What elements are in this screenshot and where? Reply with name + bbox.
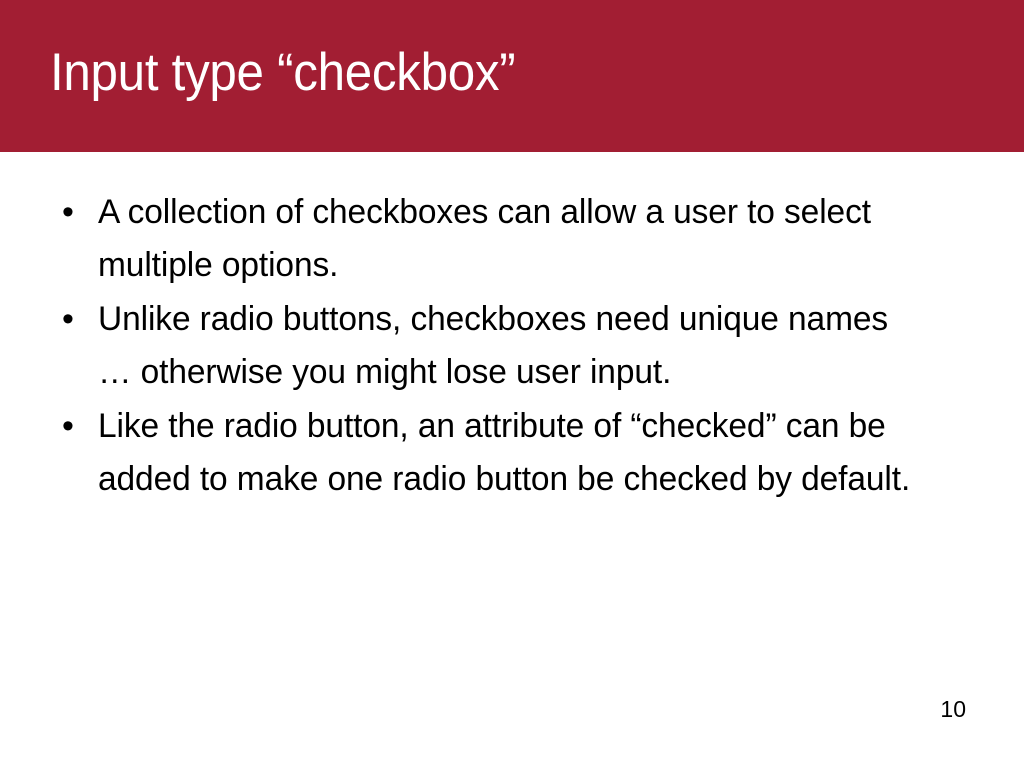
- page-title: Input type “checkbox”: [50, 44, 924, 101]
- page-number: 10: [940, 698, 966, 721]
- bullet-marker-icon: •: [58, 186, 98, 239]
- bullet-list: • A collection of checkboxes can allow a…: [58, 186, 958, 507]
- list-item: • Unlike radio buttons, checkboxes need …: [58, 293, 958, 399]
- list-item: • A collection of checkboxes can allow a…: [58, 186, 958, 292]
- list-item-text: Like the radio button, an attribute of “…: [98, 400, 925, 506]
- list-item-text: Unlike radio buttons, checkboxes need un…: [98, 293, 925, 399]
- bullet-marker-icon: •: [58, 400, 98, 453]
- list-item: • Like the radio button, an attribute of…: [58, 400, 958, 506]
- title-banner: Input type “checkbox”: [0, 0, 1024, 152]
- slide: Input type “checkbox” • A collection of …: [0, 0, 1024, 768]
- bullet-marker-icon: •: [58, 293, 98, 346]
- list-item-text: A collection of checkboxes can allow a u…: [98, 186, 925, 292]
